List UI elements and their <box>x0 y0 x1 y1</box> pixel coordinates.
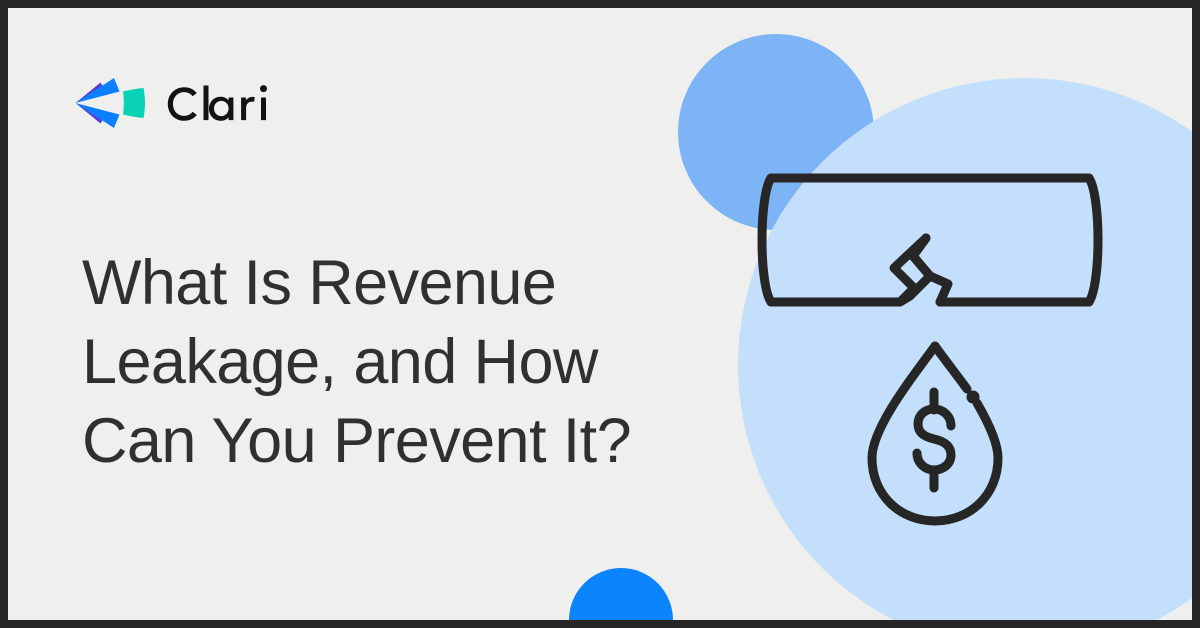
clari-wordmark <box>160 76 296 130</box>
dollar-sign-s <box>917 409 951 470</box>
money-droplet-outline-top-right <box>935 346 967 389</box>
clari-fan-logo-icon <box>74 70 148 136</box>
social-share-card: What Is Revenue Leakage, and How Can You… <box>0 0 1200 628</box>
pipe-right-cap <box>1089 178 1098 302</box>
leaking-pipe-with-dollar-droplet-illustration <box>748 158 1128 538</box>
money-droplet-outline <box>872 346 998 521</box>
droplet-accent-dot <box>967 391 980 404</box>
vivid-blue-circle <box>569 568 673 620</box>
card-panel: What Is Revenue Leakage, and How Can You… <box>8 8 1192 620</box>
clari-logo[interactable] <box>74 70 296 136</box>
page-title: What Is Revenue Leakage, and How Can You… <box>82 244 722 481</box>
pipe-left-cap <box>762 178 771 302</box>
